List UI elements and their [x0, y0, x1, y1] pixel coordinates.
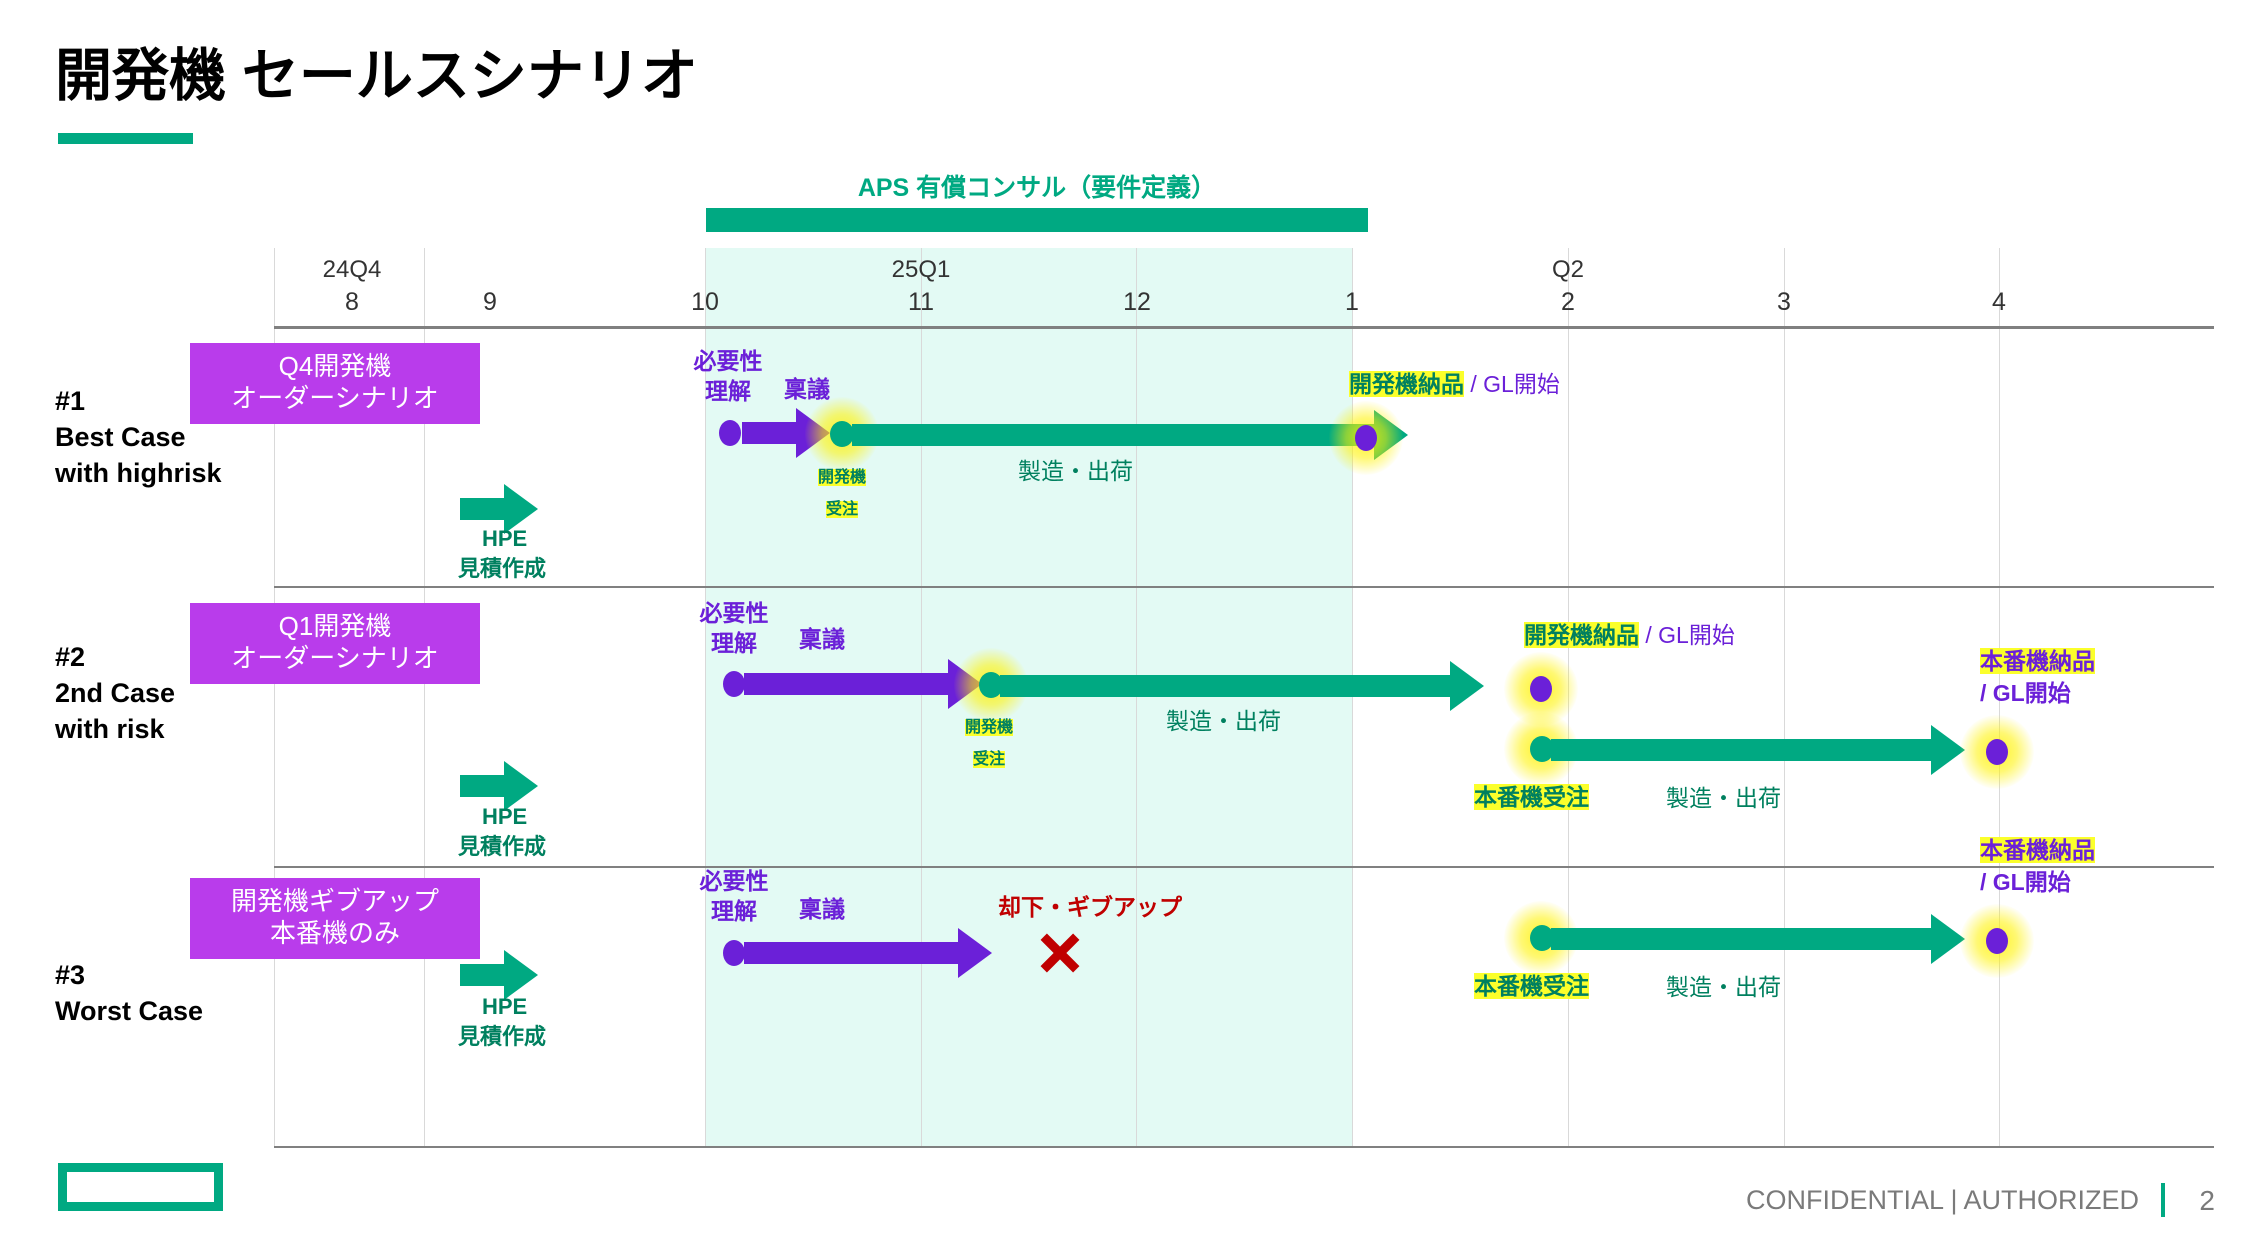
arrow-approval-row2 [744, 673, 956, 695]
label-hpe-quote-row2-l2: 見積作成 [458, 834, 546, 860]
footer-divider [2161, 1183, 2165, 1217]
label-hpe-quote-row2-l1: HPE [482, 804, 527, 830]
label-rejected-row3: 却下・ギブアップ [998, 894, 1182, 922]
scenario-badge-row2[interactable]: Q1開発機 オーダーシナリオ [190, 603, 480, 684]
row-caption-3-line-2: Worst Case [55, 994, 203, 1030]
arrow-hpe-quote-row3 [460, 964, 512, 986]
row-caption-1: #1 Best Case with highrisk [55, 384, 222, 492]
label-prod-manufacture-ship-row2: 製造・出荷 [1666, 785, 1781, 813]
arrow-hpe-quote-row1 [460, 498, 512, 520]
row-caption-3-line-1: #3 [55, 958, 203, 994]
label-need-understanding-row1-l1: 必要性 [668, 348, 788, 376]
badge-line-2: 本番機のみ [206, 918, 464, 950]
month-label-9: 9 [382, 288, 598, 317]
page-title: 開発機 セールスシナリオ [55, 30, 698, 112]
milestone-dot-delivery-row1 [1355, 425, 1377, 451]
title-accent-rule [58, 133, 193, 144]
quarter-label-25q1: 25Q1 [813, 256, 1029, 284]
row-separator-3 [274, 1146, 2214, 1148]
row-separator-2 [274, 866, 2214, 868]
page-number: 2 [2199, 1185, 2215, 1217]
label-need-understanding-row3-l2: 理解 [674, 898, 794, 926]
quarter-label-24q4: 24Q4 [244, 256, 460, 284]
label-prod-delivery-row2-l2: / GL開始 [1980, 680, 2071, 708]
hpe-logo [58, 1163, 223, 1211]
label-need-understanding-row2-l1: 必要性 [674, 600, 794, 628]
label-hpe-quote-row1-l1: HPE [482, 526, 527, 552]
label-approval-row2: 稟議 [799, 626, 845, 654]
consult-band-bar [706, 208, 1368, 232]
row-caption-1-line-3: with highrisk [55, 456, 222, 492]
row-caption-2-line-2: 2nd Case [55, 676, 175, 712]
row-caption-2-line-3: with risk [55, 712, 175, 748]
grid-line-m11 [921, 248, 922, 1148]
badge-line-1: Q4開発機 [206, 351, 464, 383]
milestone-dot-dev-order-row1 [830, 421, 854, 447]
scenario-badge-row1[interactable]: Q4開発機 オーダーシナリオ [190, 343, 480, 424]
scenario-timeline-chart: 24Q4 25Q1 Q2 8 9 10 11 12 1 2 3 4 Q4開発機 … [274, 248, 2214, 1148]
label-manufacture-ship-row1: 製造・出荷 [1018, 458, 1133, 486]
label-dev-order-row1-l2: 受注 [777, 500, 907, 519]
label-dev-order-row2-l1: 開発機 [924, 718, 1054, 737]
grid-line-m12 [1136, 248, 1137, 1148]
arrow-approval-row1 [742, 422, 804, 444]
arrow-prod-manufacture-ship-row2 [1551, 739, 1939, 761]
badge-line-2: オーダーシナリオ [206, 643, 464, 675]
label-prod-manufacture-ship-row3: 製造・出荷 [1666, 974, 1781, 1002]
scenario-badge-row3[interactable]: 開発機ギブアップ 本番機のみ [190, 878, 480, 959]
label-delivery-row2: 開発機納品 / GL開始 [1524, 622, 1735, 650]
label-prod-delivery-row3-l2: / GL開始 [1980, 869, 2071, 897]
label-prod-delivery-row3-l1: 本番機納品 [1980, 837, 2095, 865]
month-label-12: 12 [1029, 288, 1245, 317]
label-prod-delivery-row2-l1: 本番機納品 [1980, 648, 2095, 676]
month-label-2: 2 [1460, 288, 1676, 317]
month-label-11: 11 [813, 288, 1029, 317]
arrow-approval-row3 [744, 942, 966, 964]
label-prod-order-row3: 本番機受注 [1474, 973, 1589, 1001]
label-hpe-quote-row3-l1: HPE [482, 994, 527, 1020]
label-hpe-quote-row3-l2: 見積作成 [458, 1024, 546, 1050]
milestone-dot-need-row1 [719, 420, 741, 446]
arrow-manufacture-ship-row1 [852, 424, 1382, 446]
grid-line-m3 [1784, 248, 1785, 1148]
milestone-dot-prod-delivery-row3 [1986, 928, 2008, 954]
badge-line-1: Q1開発機 [206, 611, 464, 643]
row-caption-2-line-1: #2 [55, 640, 175, 676]
label-dev-order-row1-l1: 開発機 [777, 468, 907, 487]
label-hpe-quote-row1-l2: 見積作成 [458, 556, 546, 582]
row-caption-1-line-1: #1 [55, 384, 222, 420]
consult-band-label: APS 有償コンサル（要件定義） [706, 168, 1368, 204]
row-caption-3: #3 Worst Case [55, 958, 203, 1030]
row-caption-1-line-2: Best Case [55, 420, 222, 456]
header-separator [274, 326, 2214, 329]
label-need-understanding-row2-l2: 理解 [674, 630, 794, 658]
month-label-3: 3 [1676, 288, 1892, 317]
label-delivery-row1: 開発機納品 / GL開始 [1349, 371, 1560, 399]
label-dev-order-row2-l2: 受注 [924, 750, 1054, 769]
footer-confidentiality-notice: CONFIDENTIAL | AUTHORIZED [1746, 1185, 2139, 1216]
label-approval-row3: 稟議 [799, 896, 845, 924]
arrow-prod-manufacture-ship-row3 [1551, 928, 1939, 950]
month-label-1: 1 [1244, 288, 1460, 317]
milestone-dot-need-row2 [723, 671, 745, 697]
label-approval-row1: 稟議 [784, 376, 830, 404]
milestone-dot-delivery-row2 [1530, 676, 1552, 702]
label-need-understanding-row3-l1: 必要性 [674, 868, 794, 896]
row-separator-1 [274, 586, 2214, 588]
month-label-10: 10 [597, 288, 813, 317]
rejected-x-icon [1037, 930, 1083, 976]
quarter-label-q2: Q2 [1460, 256, 1676, 284]
row-caption-2: #2 2nd Case with risk [55, 640, 175, 748]
label-manufacture-ship-row2: 製造・出荷 [1166, 708, 1281, 736]
milestone-dot-need-row3 [723, 940, 745, 966]
arrow-manufacture-ship-row2 [1000, 675, 1458, 697]
label-prod-order-row2: 本番機受注 [1474, 784, 1589, 812]
month-label-4: 4 [1891, 288, 2107, 317]
milestone-dot-prod-delivery-row2 [1986, 739, 2008, 765]
label-need-understanding-row1-l2: 理解 [668, 378, 788, 406]
badge-line-1: 開発機ギブアップ [206, 886, 464, 918]
badge-line-2: オーダーシナリオ [206, 383, 464, 415]
arrow-hpe-quote-row2 [460, 775, 512, 797]
